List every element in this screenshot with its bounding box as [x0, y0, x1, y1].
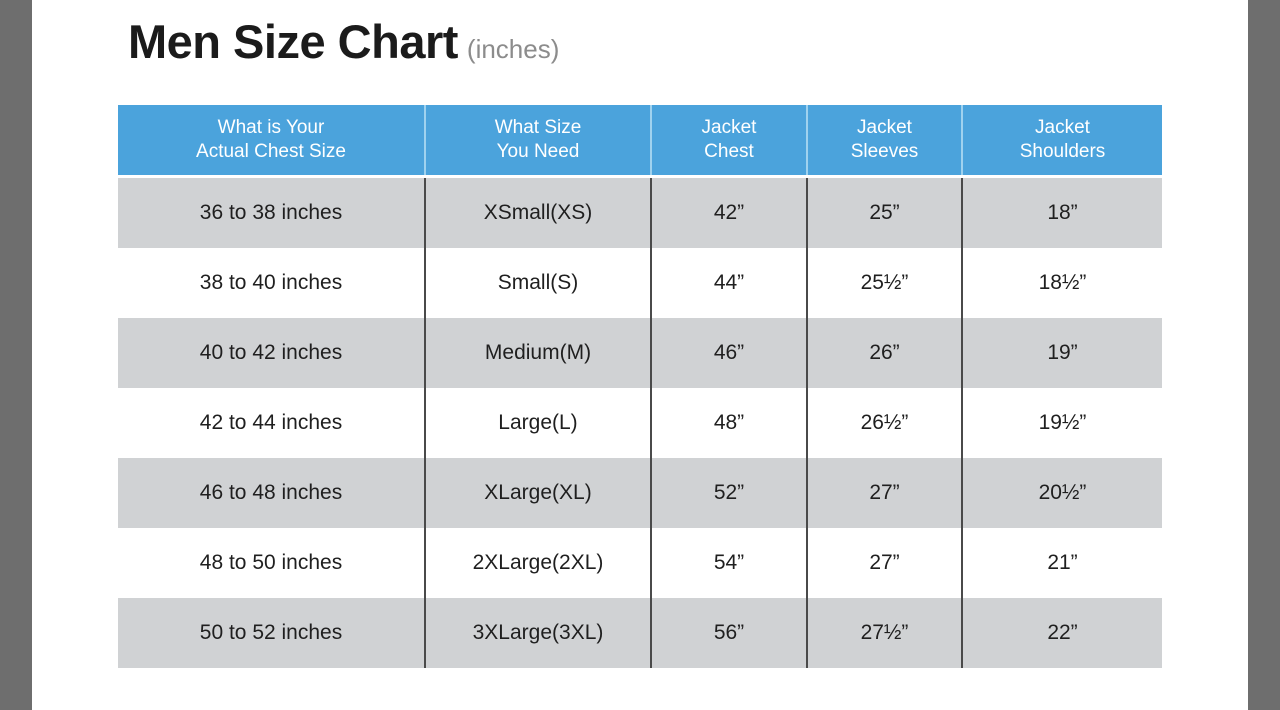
cell-jacket-sleeves: 27” — [807, 528, 962, 598]
cell-jacket-chest: 52” — [651, 458, 807, 528]
cell-actual-chest-size: 50 to 52 inches — [118, 598, 425, 668]
cell-size-you-need: XSmall(XS) — [425, 177, 651, 249]
table-header: What is Your Actual Chest Size What Size… — [118, 105, 1162, 177]
cell-jacket-shoulders: 19½” — [962, 388, 1162, 458]
table-row: 48 to 50 inches 2XLarge(2XL) 54” 27” 21” — [118, 528, 1162, 598]
cell-actual-chest-size: 46 to 48 inches — [118, 458, 425, 528]
column-header-line2: Actual Chest Size — [118, 140, 424, 164]
men-size-chart-table: What is Your Actual Chest Size What Size… — [118, 105, 1162, 668]
cell-jacket-sleeves: 27½” — [807, 598, 962, 668]
cell-jacket-sleeves: 25” — [807, 177, 962, 249]
cell-size-you-need: 3XLarge(3XL) — [425, 598, 651, 668]
letterbox-right — [1248, 0, 1280, 710]
cell-jacket-chest: 48” — [651, 388, 807, 458]
cell-actual-chest-size: 42 to 44 inches — [118, 388, 425, 458]
column-header-line1: What is Your — [118, 116, 424, 140]
cell-jacket-shoulders: 21” — [962, 528, 1162, 598]
table-row: 46 to 48 inches XLarge(XL) 52” 27” 20½” — [118, 458, 1162, 528]
column-header-line1: Jacket — [808, 116, 961, 140]
cell-jacket-sleeves: 25½” — [807, 248, 962, 318]
cell-actual-chest-size: 38 to 40 inches — [118, 248, 425, 318]
table-row: 36 to 38 inches XSmall(XS) 42” 25” 18” — [118, 177, 1162, 249]
cell-jacket-sleeves: 26½” — [807, 388, 962, 458]
column-header-line1: Jacket — [963, 116, 1162, 140]
cell-jacket-chest: 54” — [651, 528, 807, 598]
table-header-row: What is Your Actual Chest Size What Size… — [118, 105, 1162, 177]
cell-size-you-need: Large(L) — [425, 388, 651, 458]
cell-jacket-shoulders: 22” — [962, 598, 1162, 668]
table-row: 50 to 52 inches 3XLarge(3XL) 56” 27½” 22… — [118, 598, 1162, 668]
cell-jacket-sleeves: 26” — [807, 318, 962, 388]
column-header-line1: What Size — [426, 116, 650, 140]
cell-jacket-shoulders: 20½” — [962, 458, 1162, 528]
cell-actual-chest-size: 40 to 42 inches — [118, 318, 425, 388]
column-header-line2: Sleeves — [808, 140, 961, 164]
table-row: 38 to 40 inches Small(S) 44” 25½” 18½” — [118, 248, 1162, 318]
page-title-main: Men Size Chart — [128, 18, 458, 65]
page-title: Men Size Chart (inches) — [128, 18, 559, 65]
column-header-jacket-sleeves: Jacket Sleeves — [807, 105, 962, 177]
column-header-jacket-chest: Jacket Chest — [651, 105, 807, 177]
chart-canvas: Men Size Chart (inches) What is Your Act… — [32, 0, 1248, 710]
cell-jacket-shoulders: 18½” — [962, 248, 1162, 318]
cell-size-you-need: Small(S) — [425, 248, 651, 318]
column-header-jacket-shoulders: Jacket Shoulders — [962, 105, 1162, 177]
cell-actual-chest-size: 48 to 50 inches — [118, 528, 425, 598]
column-header-actual-chest-size: What is Your Actual Chest Size — [118, 105, 425, 177]
table-row: 40 to 42 inches Medium(M) 46” 26” 19” — [118, 318, 1162, 388]
cell-jacket-chest: 42” — [651, 177, 807, 249]
column-header-line2: Chest — [652, 140, 806, 164]
column-header-line1: Jacket — [652, 116, 806, 140]
column-header-line2: You Need — [426, 140, 650, 164]
column-header-line2: Shoulders — [963, 140, 1162, 164]
column-header-size-you-need: What Size You Need — [425, 105, 651, 177]
cell-jacket-chest: 56” — [651, 598, 807, 668]
cell-jacket-shoulders: 18” — [962, 177, 1162, 249]
table-body: 36 to 38 inches XSmall(XS) 42” 25” 18” 3… — [118, 177, 1162, 669]
table-row: 42 to 44 inches Large(L) 48” 26½” 19½” — [118, 388, 1162, 458]
cell-size-you-need: Medium(M) — [425, 318, 651, 388]
cell-jacket-sleeves: 27” — [807, 458, 962, 528]
cell-size-you-need: XLarge(XL) — [425, 458, 651, 528]
cell-jacket-chest: 46” — [651, 318, 807, 388]
cell-actual-chest-size: 36 to 38 inches — [118, 177, 425, 249]
cell-size-you-need: 2XLarge(2XL) — [425, 528, 651, 598]
page-title-units: (inches) — [467, 36, 559, 62]
cell-jacket-shoulders: 19” — [962, 318, 1162, 388]
cell-jacket-chest: 44” — [651, 248, 807, 318]
letterbox-left — [0, 0, 32, 710]
